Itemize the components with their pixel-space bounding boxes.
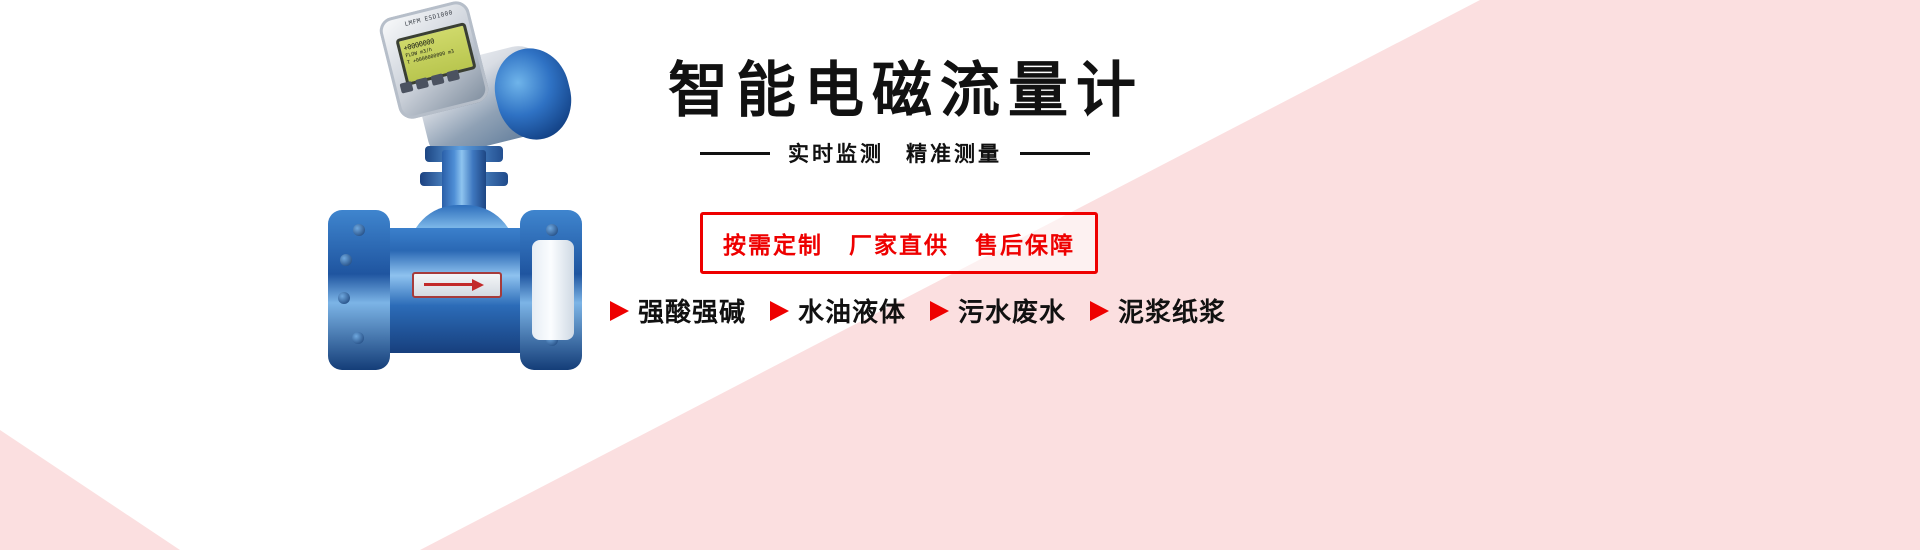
bolt: [353, 224, 365, 236]
subtitle-item-0: 实时监测: [788, 143, 884, 166]
display-button-4: [446, 69, 460, 82]
feature-label: 泥浆纸浆: [1118, 292, 1226, 329]
feature-item: 水油液体: [770, 292, 906, 329]
bolt: [340, 254, 352, 266]
slogan-text: 按需定制厂家直供售后保障: [723, 226, 1075, 260]
feature-item: 污水废水: [930, 292, 1066, 329]
pipe-liner: [532, 240, 574, 340]
slogan-box: 按需定制厂家直供售后保障: [700, 212, 1098, 274]
feature-item: 泥浆纸浆: [1090, 292, 1226, 329]
feature-label: 污水废水: [958, 292, 1066, 329]
subtitle-rule-right: [1020, 152, 1090, 155]
page-title: 智能电磁流量计: [668, 42, 1144, 129]
product-illustration: LMFM ESD1000 +0000000 FLOW m3/h T +00000…: [300, 0, 660, 420]
arrow-right-icon: [770, 301, 789, 321]
display-button-1: [399, 81, 413, 94]
subtitle-row: 实时监测精准测量: [700, 138, 1090, 168]
display-button-2: [415, 77, 429, 90]
arrow-right-icon: [610, 301, 629, 321]
subtitle-item-1: 精准测量: [906, 143, 1002, 166]
feature-label: 水油液体: [798, 292, 906, 329]
arrow-right-icon: [1090, 301, 1109, 321]
slogan-item-1: 厂家直供: [849, 232, 949, 258]
bolt: [546, 224, 558, 236]
bolt: [352, 332, 364, 344]
subtitle-text: 实时监测精准测量: [788, 138, 1002, 168]
feature-item: 强酸强碱: [610, 292, 746, 329]
slogan-item-2: 售后保障: [975, 232, 1075, 258]
subtitle-rule-left: [700, 152, 770, 155]
feature-list: 强酸强碱 水油液体 污水废水 泥浆纸浆: [610, 292, 1226, 329]
flow-direction-arrow-icon: [412, 272, 502, 298]
flange-left: [328, 210, 390, 370]
bolt: [338, 292, 350, 304]
slogan-item-0: 按需定制: [723, 232, 823, 258]
feature-label: 强酸强碱: [638, 292, 746, 329]
arrow-right-icon: [930, 301, 949, 321]
promo-banner: LMFM ESD1000 +0000000 FLOW m3/h T +00000…: [0, 0, 1920, 550]
display-button-3: [431, 73, 445, 86]
